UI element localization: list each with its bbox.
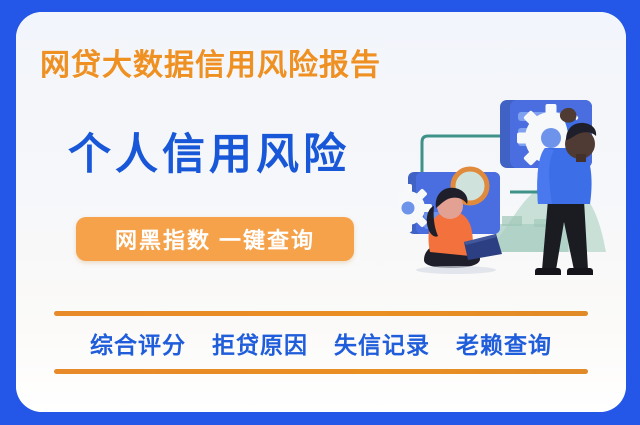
feature-item-rejection-reason[interactable]: 拒贷原因 (212, 326, 308, 360)
divider-bottom (54, 369, 588, 374)
divider-top (54, 311, 588, 316)
query-button[interactable]: 网黑指数 一键查询 (76, 217, 354, 261)
page-title: 网贷大数据信用风险报告 (40, 40, 381, 84)
subtitle: 个人信用风险 (68, 120, 350, 182)
credit-report-teamwork-illustration (398, 56, 620, 304)
feature-item-deadbeat-query[interactable]: 老赖查询 (456, 326, 552, 360)
ground-shadow (416, 266, 496, 274)
query-button-label: 网黑指数 一键查询 (115, 223, 315, 255)
feature-list: 综合评分 拒贷原因 失信记录 老赖查询 (54, 322, 588, 364)
feature-item-default-record[interactable]: 失信记录 (334, 326, 430, 360)
poster-card: 网贷大数据信用风险报告 个人信用风险 网黑指数 一键查询 综合评分 拒贷原因 失… (16, 12, 626, 412)
poster-root: 网贷大数据信用风险报告 个人信用风险 网黑指数 一键查询 综合评分 拒贷原因 失… (0, 0, 640, 425)
feature-item-score[interactable]: 综合评分 (90, 326, 186, 360)
